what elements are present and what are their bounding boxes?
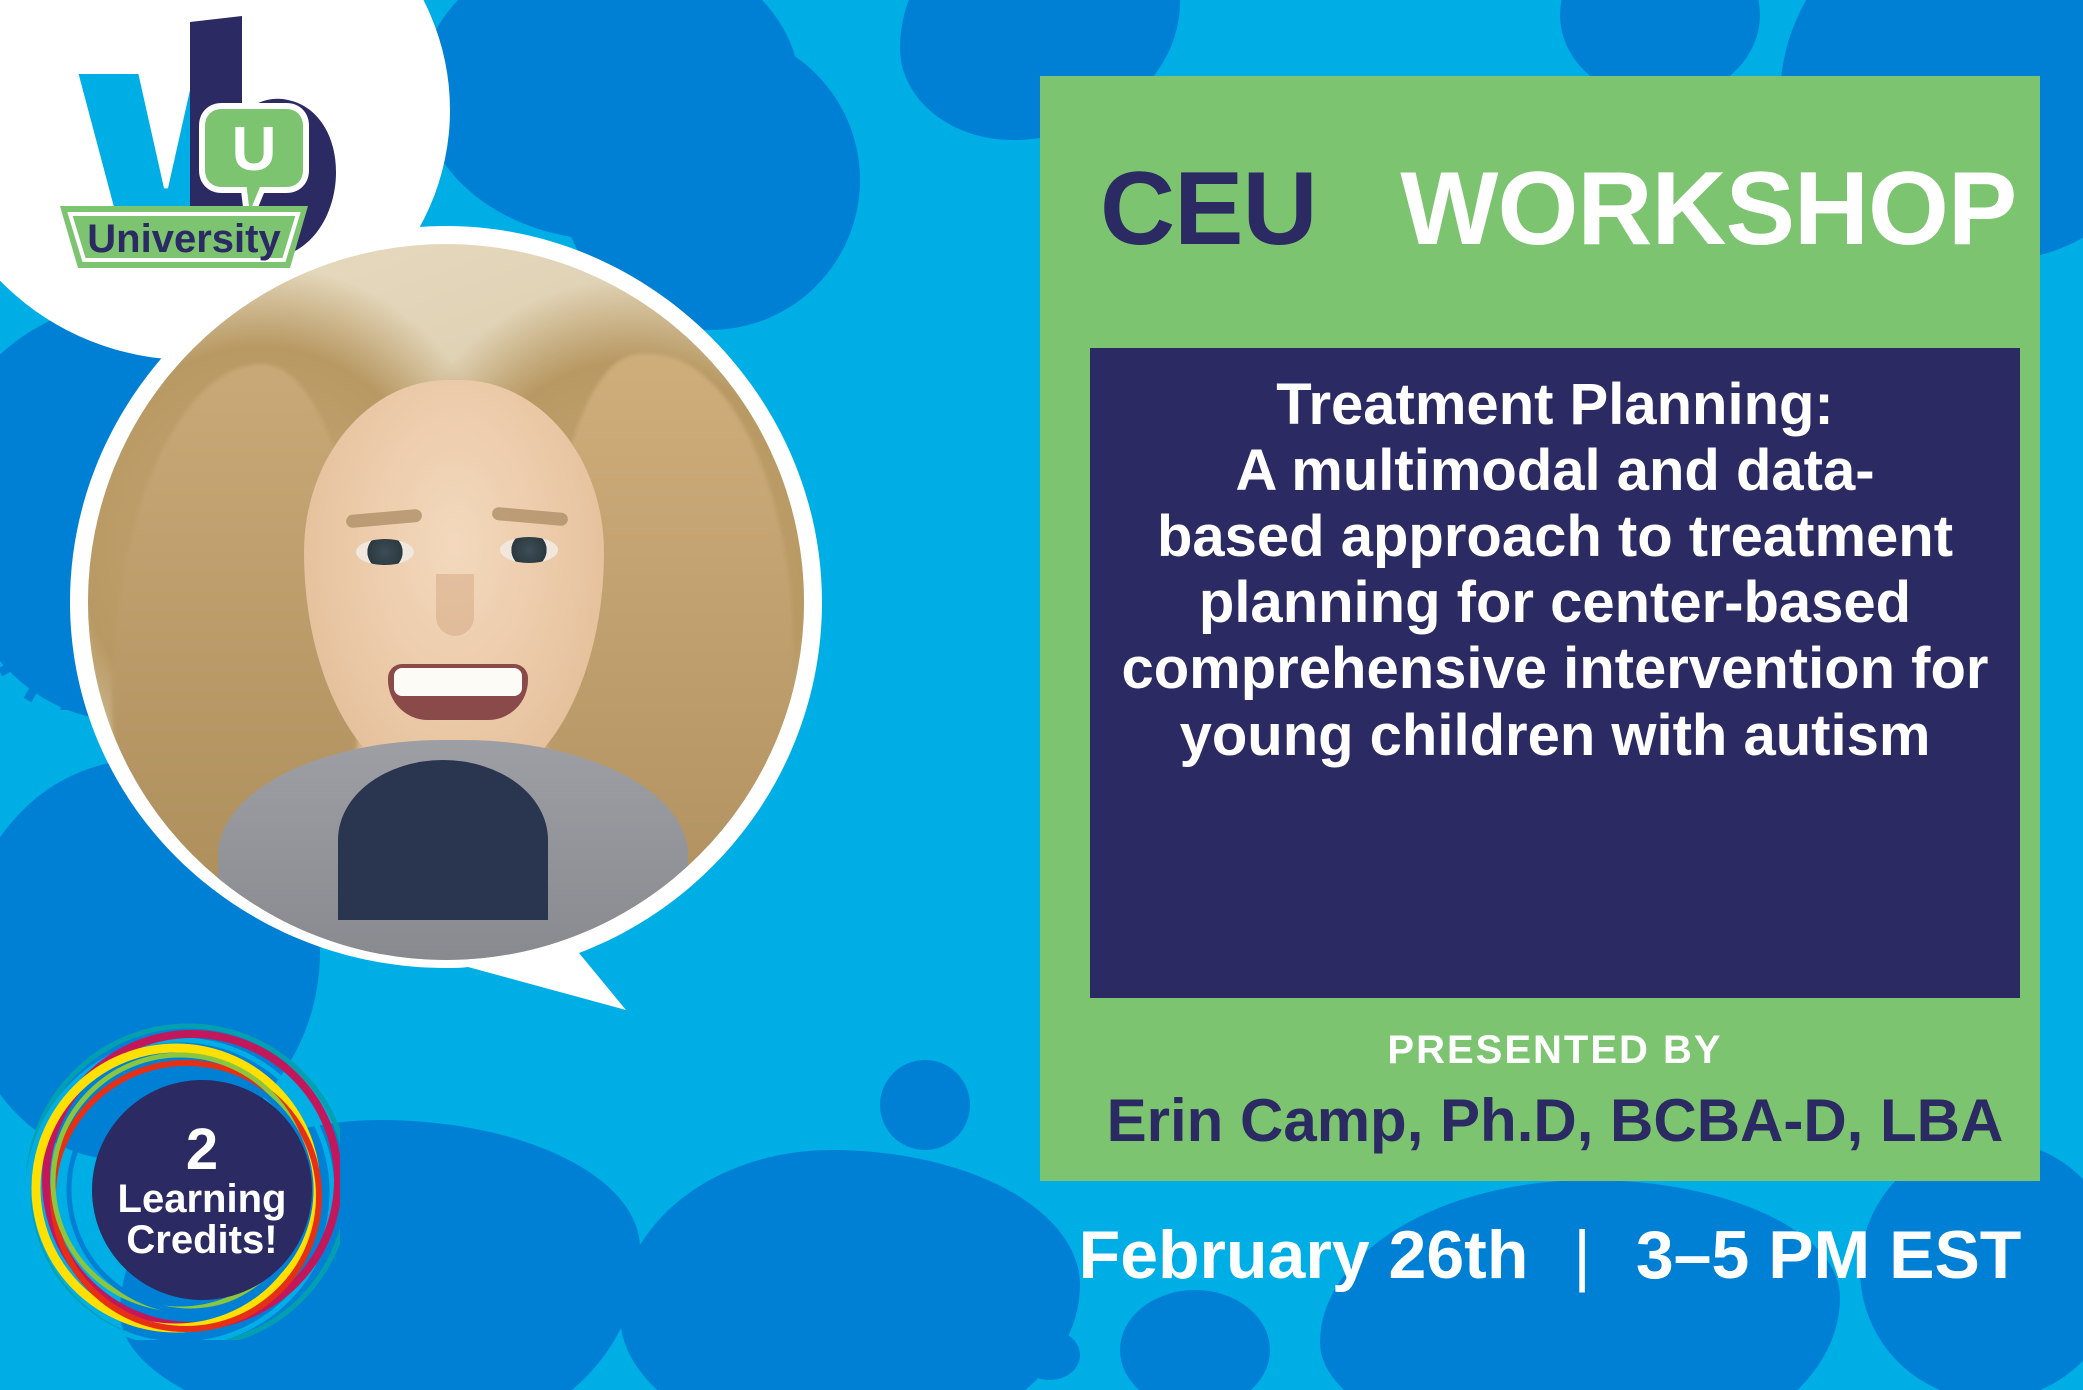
schedule-date: February 26th [1079, 1217, 1529, 1293]
title-line: Treatment Planning: [1100, 372, 2010, 438]
logo-u-letter: U [232, 115, 277, 184]
title-line: A multimodal and data- [1100, 438, 2010, 504]
badge-credit-number: 2 [186, 1120, 218, 1179]
title-line: based approach to treatment [1100, 504, 2010, 570]
schedule-time: 3–5 PM EST [1636, 1217, 2022, 1293]
bg-blob [1020, 1330, 1080, 1380]
bg-blob [880, 1060, 970, 1150]
title-line: planning for center-based [1100, 570, 2010, 636]
badge-line-2: Credits! [126, 1220, 277, 1261]
headline-workshop: WORKSHOP [1400, 151, 2016, 267]
ceu-workshop-flyer: U University [0, 0, 2083, 1390]
page-title: CEU WORKSHOP [1100, 150, 2000, 269]
badge-line-1: Learning [118, 1179, 287, 1220]
vbu-logo[interactable]: U University [40, 10, 340, 280]
schedule-line: February 26th | 3–5 PM EST [1060, 1216, 2040, 1294]
bg-blob [1120, 1290, 1270, 1390]
badge-core: 2 Learning Credits! [92, 1080, 312, 1300]
bg-blob [620, 1150, 1080, 1390]
vbu-logo-mark: U University [40, 10, 340, 280]
workshop-title-text: Treatment Planning: A multimodal and dat… [1100, 372, 2010, 769]
title-line: young children with autism [1100, 703, 2010, 769]
headline-ceu: CEU [1100, 151, 1317, 267]
learning-credits-badge: 2 Learning Credits! [10, 1010, 340, 1340]
presenter-photo [88, 244, 804, 960]
presenter-photo-bubble [66, 222, 826, 1012]
schedule-separator: | [1573, 1216, 1591, 1294]
logo-university-label: University [87, 217, 281, 261]
presented-by-label: PRESENTED BY [1100, 1028, 2010, 1073]
presenter-name: Erin Camp, Ph.D, BCBA-D, LBA [1100, 1086, 2010, 1155]
title-line: comprehensive intervention for [1100, 636, 2010, 702]
